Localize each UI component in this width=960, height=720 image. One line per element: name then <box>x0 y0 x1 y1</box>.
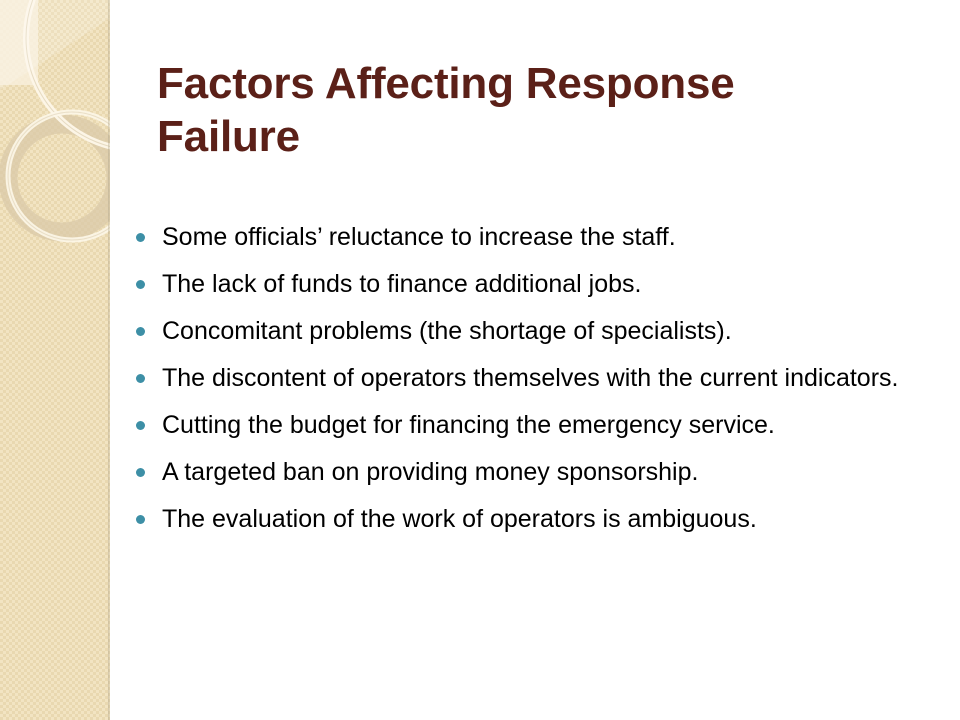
list-item: A targeted ban on providing money sponso… <box>130 455 960 489</box>
sidebar-decoration-graphic <box>0 0 110 720</box>
bullet-dot-icon <box>136 515 145 524</box>
sidebar-edge-line <box>108 0 110 720</box>
bullet-text: Some officials’ reluctance to increase t… <box>162 220 960 254</box>
presentation-slide: Factors Affecting Response Failure Some … <box>0 0 960 720</box>
bullet-text: The lack of funds to finance additional … <box>162 267 960 301</box>
bullet-text: The discontent of operators themselves w… <box>162 361 960 395</box>
bullet-dot-icon <box>136 280 145 289</box>
slide-bullet-list: Some officials’ reluctance to increase t… <box>130 220 960 536</box>
slide-title: Factors Affecting Response Failure <box>157 57 887 163</box>
bullet-dot-icon <box>136 468 145 477</box>
decorative-sidebar <box>0 0 110 720</box>
sidebar-shade-wedge <box>0 0 110 90</box>
list-item: The evaluation of the work of operators … <box>130 502 960 536</box>
bullet-dot-icon <box>136 327 145 336</box>
bullet-text: Concomitant problems (the shortage of sp… <box>162 314 960 348</box>
bullet-text: Cutting the budget for financing the eme… <box>162 408 960 442</box>
bullet-dot-icon <box>136 374 145 383</box>
list-item: Some officials’ reluctance to increase t… <box>130 220 960 254</box>
bullet-dot-icon <box>136 421 145 430</box>
bullet-dot-icon <box>136 233 145 242</box>
list-item: The lack of funds to finance additional … <box>130 267 960 301</box>
bullet-text: The evaluation of the work of operators … <box>162 502 960 536</box>
list-item: The discontent of operators themselves w… <box>130 361 960 395</box>
bullet-text: A targeted ban on providing money sponso… <box>162 455 960 489</box>
list-item: Cutting the budget for financing the eme… <box>130 408 960 442</box>
list-item: Concomitant problems (the shortage of sp… <box>130 314 960 348</box>
